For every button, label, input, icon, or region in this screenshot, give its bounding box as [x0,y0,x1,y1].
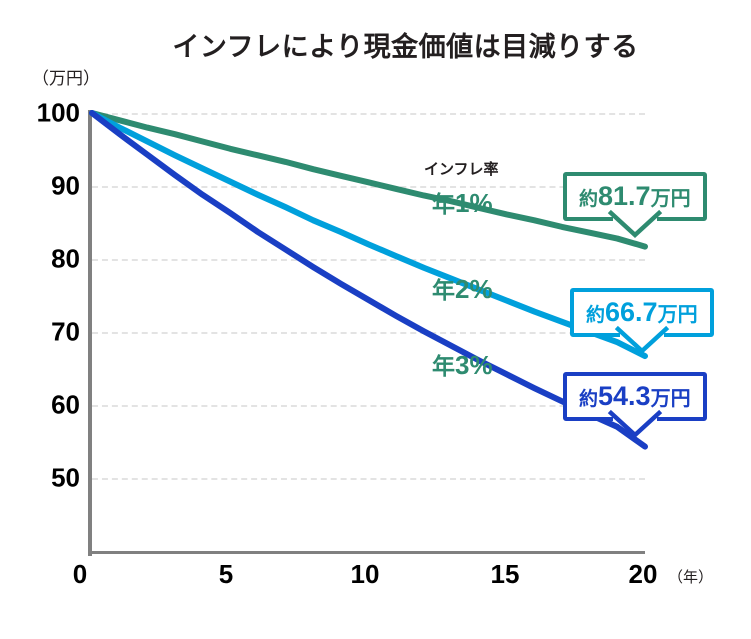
callout-value: 54.3 [598,381,651,411]
y-axis-ticks: 100 90 80 70 60 50 [0,113,80,553]
x-tick-label: 10 [351,559,380,590]
series-label-prefix: 年 [432,191,455,217]
y-tick-label: 70 [14,317,80,348]
y-tick-label: 80 [14,244,80,275]
series-label-percent: % [469,274,492,304]
callout-unit: 万円 [658,304,698,326]
x-tick-label: 15 [491,559,520,590]
series-label-1percent: 年1% [432,185,493,219]
callout-3percent-value: 約54.3万円 [563,372,707,421]
x-tick-label: 20 [629,559,658,590]
x-tick-label: 5 [219,559,233,590]
legend-header: インフレ率 [424,158,499,179]
callout-2percent-value: 約66.7万円 [570,288,714,337]
y-axis-unit-label: （万円） [32,64,100,89]
callout-notch-icon [620,332,664,354]
series-label-prefix: 年 [432,277,455,303]
y-tick-label: 90 [14,171,80,202]
series-label-prefix: 年 [432,353,455,379]
callout-prefix: 約 [586,305,605,326]
callout-prefix: 約 [579,189,598,210]
y-tick-label: 100 [14,98,80,129]
y-tick-label: 50 [14,463,80,494]
series-label-2percent: 年2% [432,271,493,305]
callout-value: 81.7 [598,181,651,211]
x-tick-label: 0 [73,559,87,590]
callout-notch-icon [613,216,657,238]
series-label-rate: 3 [455,350,469,380]
x-axis-unit-label: （年） [668,566,713,587]
callout-unit: 万円 [651,188,691,210]
line-series-2percent [92,113,645,356]
callout-1percent-value: 約81.7万円 [563,172,707,221]
callout-unit: 万円 [651,388,691,410]
series-label-percent: % [469,188,492,218]
y-tick-label: 60 [14,390,80,421]
series-label-3percent: 年3% [432,347,493,381]
callout-notch-icon [613,416,657,438]
chart-root: インフレにより現金価値は目減りする （万円） （年） 100 90 80 70 … [0,0,751,639]
series-label-percent: % [469,350,492,380]
series-label-rate: 2 [455,274,469,304]
page-title: インフレにより現金価値は目減りする [0,25,751,64]
series-label-rate: 1 [455,188,469,218]
callout-prefix: 約 [579,389,598,410]
callout-value: 66.7 [605,297,658,327]
